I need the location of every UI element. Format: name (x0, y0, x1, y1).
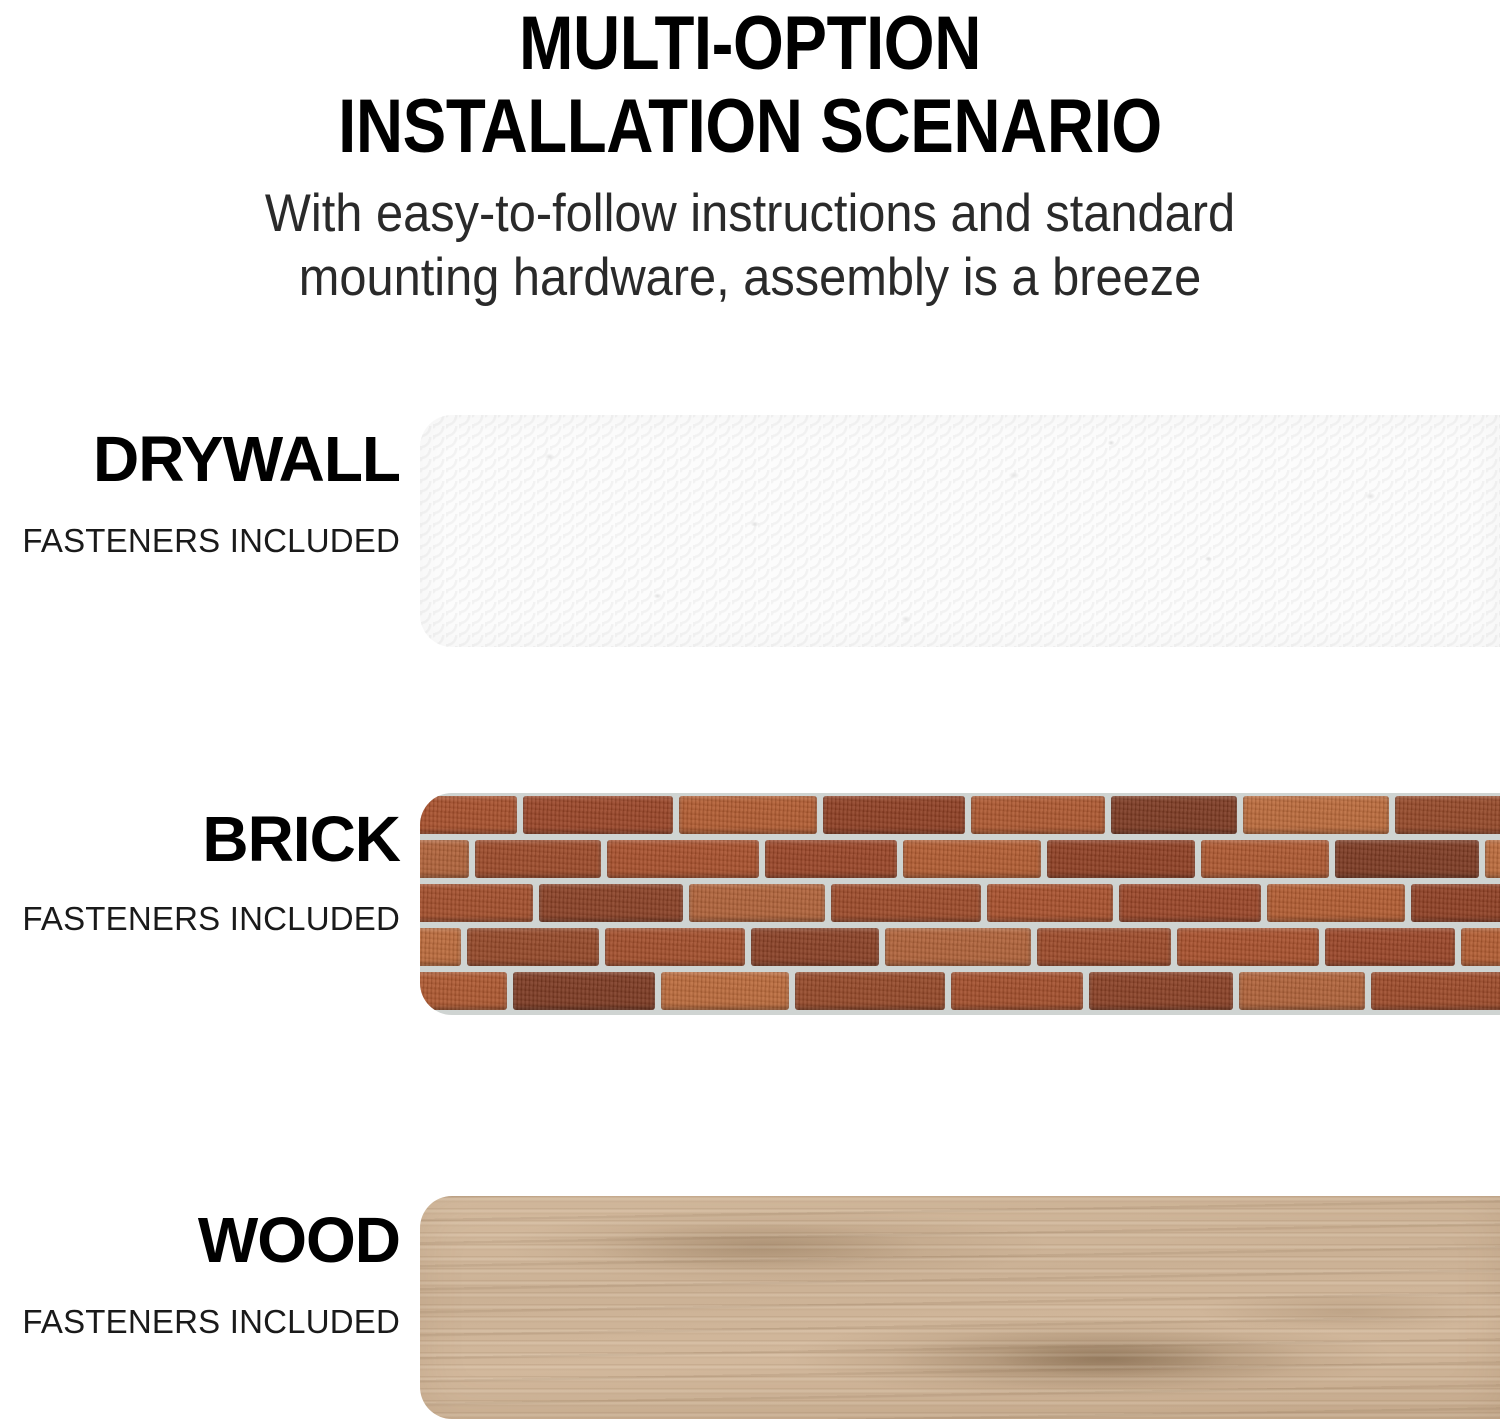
brick (467, 928, 599, 966)
section-brick: BRICK FASTENERS INCLUDED (0, 793, 1500, 1015)
brick (765, 840, 897, 878)
brick (523, 796, 673, 834)
material-name-wood: WOOD (0, 1196, 402, 1272)
brick (1119, 884, 1261, 922)
brick (1089, 972, 1233, 1010)
brick (1111, 796, 1237, 834)
material-name-drywall: DRYWALL (0, 415, 402, 491)
fasteners-note-brick: FASTENERS INCLUDED (0, 871, 402, 937)
brick (1395, 796, 1500, 834)
brick-row (420, 925, 1430, 969)
brick (513, 972, 655, 1010)
brick (1411, 884, 1500, 922)
brick-texture-swatch (420, 793, 1500, 1015)
wood-texture-swatch (420, 1196, 1500, 1419)
brick (1201, 840, 1329, 878)
brick (607, 840, 759, 878)
brick (420, 928, 461, 966)
brick (987, 884, 1113, 922)
brick-pattern (420, 793, 1500, 1015)
page-subtitle-line-2: mounting hardware, assembly is a breeze (60, 246, 1440, 310)
brick (1335, 840, 1479, 878)
brick (1267, 884, 1405, 922)
brick (1325, 928, 1455, 966)
page-title: MULTI-OPTION INSTALLATION SCENARIO (105, 0, 1395, 168)
brick (823, 796, 965, 834)
brick (971, 796, 1105, 834)
brick (885, 928, 1031, 966)
section-drywall: DRYWALL FASTENERS INCLUDED (0, 415, 1500, 647)
material-name-brick: BRICK (0, 793, 402, 871)
brick-label-column: BRICK FASTENERS INCLUDED (0, 793, 402, 1015)
brick (951, 972, 1083, 1010)
page-subtitle: With easy-to-follow instructions and sta… (60, 168, 1440, 310)
drywall-texture-swatch (420, 415, 1500, 647)
brick (795, 972, 945, 1010)
brick (1239, 972, 1365, 1010)
brick (420, 796, 517, 834)
brick (1177, 928, 1319, 966)
header: MULTI-OPTION INSTALLATION SCENARIO With … (0, 0, 1500, 310)
brick (1037, 928, 1171, 966)
brick (420, 884, 533, 922)
brick (1485, 840, 1500, 878)
brick-row (420, 837, 1444, 881)
brick (1371, 972, 1500, 1010)
brick (475, 840, 601, 878)
brick (1047, 840, 1195, 878)
brick (751, 928, 879, 966)
section-wood: WOOD FASTENERS INCLUDED (0, 1196, 1500, 1419)
brick-row (420, 881, 1500, 925)
fasteners-note-drywall: FASTENERS INCLUDED (0, 491, 402, 559)
brick (1461, 928, 1500, 966)
drywall-label-column: DRYWALL FASTENERS INCLUDED (0, 415, 402, 647)
brick (1243, 796, 1389, 834)
brick (420, 840, 469, 878)
page-subtitle-line-1: With easy-to-follow instructions and sta… (60, 182, 1440, 246)
wood-label-column: WOOD FASTENERS INCLUDED (0, 1196, 402, 1419)
brick (661, 972, 789, 1010)
page-title-line-2: INSTALLATION SCENARIO (105, 85, 1395, 168)
brick (605, 928, 745, 966)
brick (831, 884, 981, 922)
fasteners-note-wood: FASTENERS INCLUDED (0, 1272, 402, 1340)
brick-row (420, 969, 1488, 1013)
page-title-line-1: MULTI-OPTION (105, 2, 1395, 85)
brick (689, 884, 825, 922)
brick (539, 884, 683, 922)
brick (679, 796, 817, 834)
brick (903, 840, 1041, 878)
brick (420, 972, 507, 1010)
brick-row (420, 793, 1500, 837)
